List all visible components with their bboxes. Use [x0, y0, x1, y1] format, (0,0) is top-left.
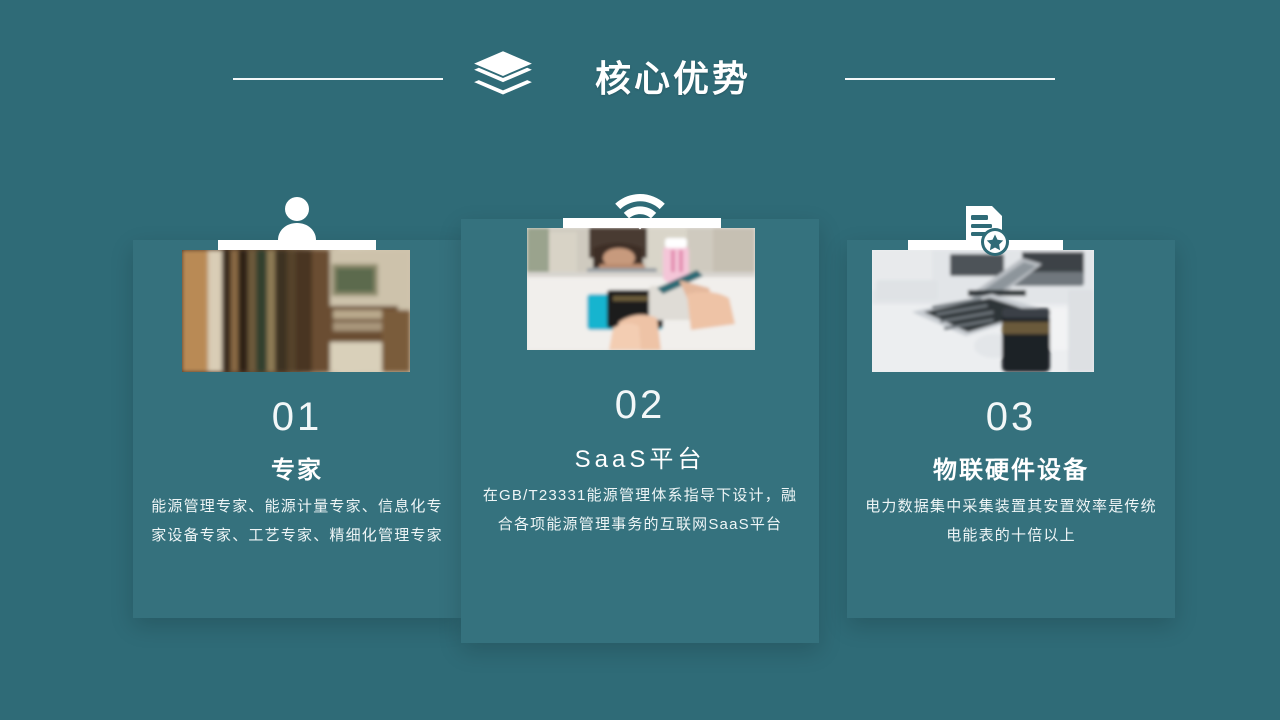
card-title: 物联硬件设备 — [847, 450, 1175, 485]
card-title: 专家 — [133, 450, 461, 485]
document-star-icon — [945, 178, 1025, 258]
library-bookshelf-photo — [182, 250, 410, 372]
advantage-cards: 01 专家 能源管理专家、能源计量专家、信息化专家设备专家、工艺专家、精细化管理… — [0, 0, 1280, 720]
card-number: 03 — [847, 395, 1175, 440]
meeting-desk-tablet-photo — [527, 228, 755, 350]
wifi-icon — [600, 150, 680, 230]
user-icon — [257, 168, 337, 248]
laptop-desk-photo — [872, 250, 1094, 372]
card-number: 02 — [461, 383, 819, 428]
card-description: 能源管理专家、能源计量专家、信息化专家设备专家、工艺专家、精细化管理专家 — [151, 492, 443, 550]
card-title: SaaS平台 — [461, 439, 819, 474]
card-description: 电力数据集中采集装置其安置效率是传统电能表的十倍以上 — [865, 492, 1157, 550]
card-number: 01 — [133, 395, 461, 440]
card-description: 在GB/T23331能源管理体系指导下设计，融合各项能源管理事务的互联网SaaS… — [479, 481, 801, 539]
